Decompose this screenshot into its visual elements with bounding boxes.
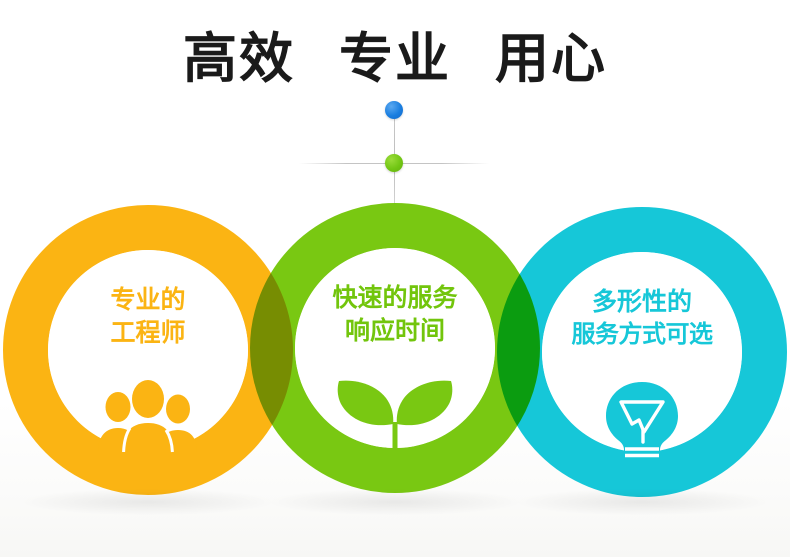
three-people-icon bbox=[48, 382, 248, 454]
card-service-options-text: 多形性的 服务方式可选 bbox=[542, 286, 742, 350]
card-response-time-line2: 响应时间 bbox=[295, 315, 495, 348]
card-service-options-line1: 多形性的 bbox=[542, 286, 742, 319]
card-service-options[interactable]: 多形性的 服务方式可选 bbox=[542, 252, 742, 452]
lightbulb-icon bbox=[542, 380, 742, 460]
card-response-time[interactable]: 快速的服务 响应时间 bbox=[295, 248, 495, 448]
blue-dot-icon bbox=[385, 101, 403, 119]
card-response-time-line1: 快速的服务 bbox=[295, 282, 495, 315]
green-dot-icon bbox=[385, 154, 403, 172]
card-engineers[interactable]: 专业的 工程师 bbox=[48, 250, 248, 450]
card-response-time-text: 快速的服务 响应时间 bbox=[295, 282, 495, 347]
headline-word-2: 专业 bbox=[339, 28, 451, 90]
card-service-options-line2: 服务方式可选 bbox=[542, 319, 742, 350]
headline-word-1: 高效 bbox=[183, 28, 295, 90]
card-engineers-line2: 工程师 bbox=[48, 317, 248, 350]
card-engineers-text: 专业的 工程师 bbox=[48, 284, 248, 349]
sprout-icon bbox=[295, 374, 495, 466]
connector-vertical-line bbox=[394, 107, 395, 215]
page-title: 高效专业用心 bbox=[0, 28, 790, 90]
venn-rings: 专业的 工程师 bbox=[0, 203, 790, 503]
headline-word-3: 用心 bbox=[495, 28, 607, 90]
promo-graphic: 高效专业用心 专业的 工程师 bbox=[0, 0, 790, 557]
connector-horizontal-line bbox=[299, 163, 489, 164]
connector-decoration bbox=[0, 95, 790, 215]
card-engineers-line1: 专业的 bbox=[48, 284, 248, 317]
